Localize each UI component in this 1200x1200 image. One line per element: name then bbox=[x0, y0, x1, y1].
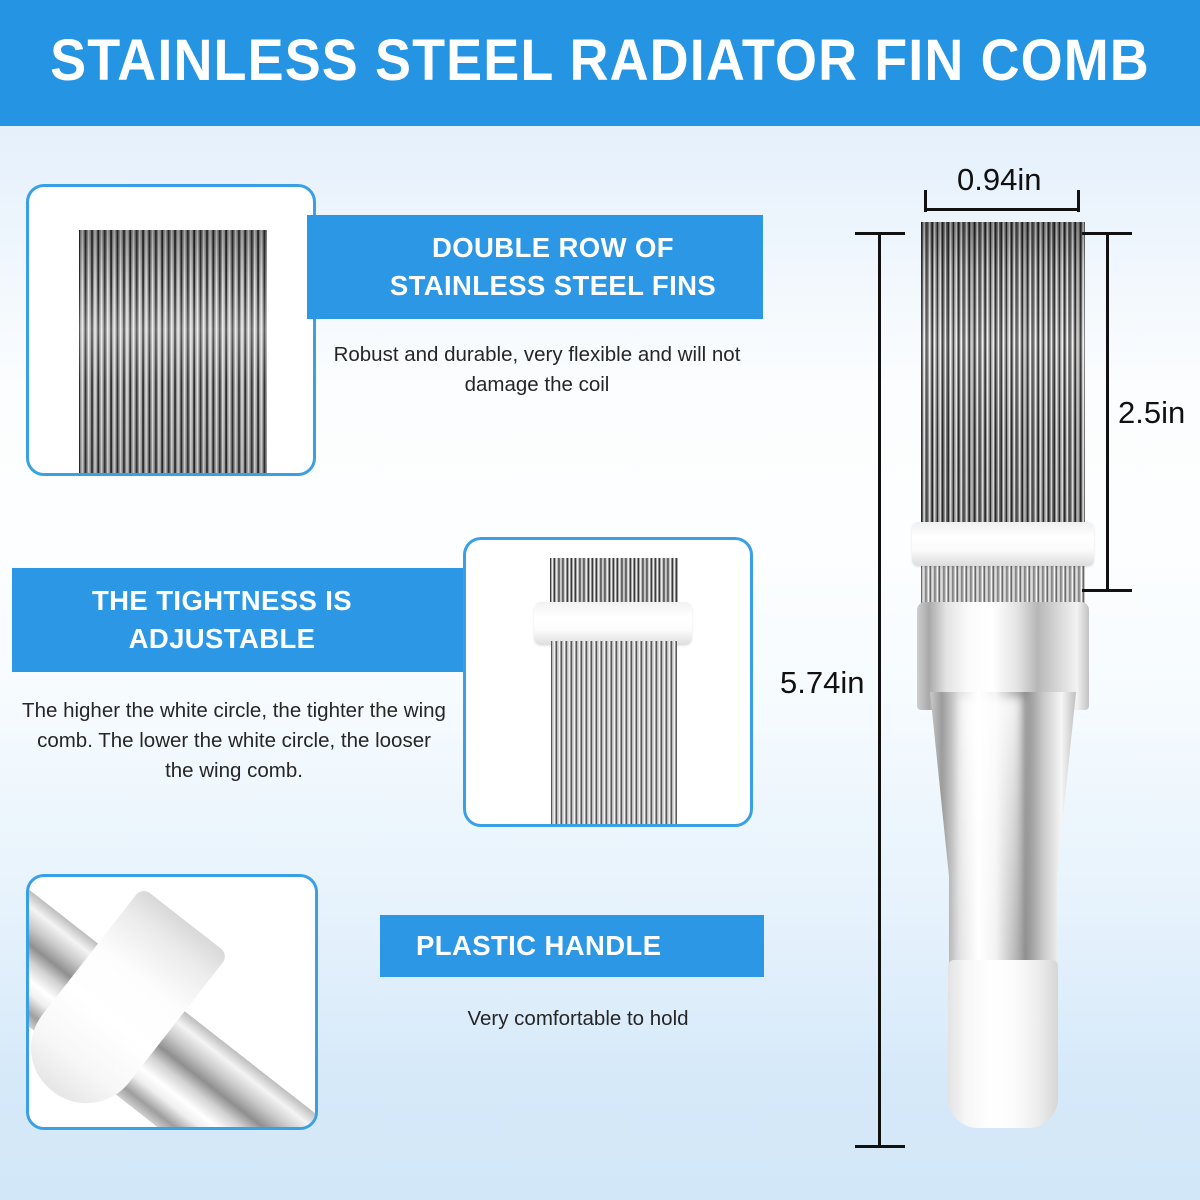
feature-title-double-row-fins: DOUBLE ROW OF STAINLESS STEEL FINS bbox=[307, 215, 763, 319]
header-banner: STAINLESS STEEL RADIATOR FIN COMB bbox=[0, 0, 1200, 126]
feature-description-tightness-adjustable: The higher the white circle, the tighter… bbox=[20, 696, 448, 786]
total-length-dimension-tick-bottom bbox=[855, 1145, 905, 1148]
feature-title-tightness-adjustable: THE TIGHTNESS IS ADJUSTABLE bbox=[12, 568, 468, 672]
total-length-dimension-line bbox=[878, 232, 881, 1148]
feature-title-plastic-handle: PLASTIC HANDLE bbox=[380, 915, 764, 977]
lower-fins-photo bbox=[551, 641, 677, 827]
feature-title-line-1: THE TIGHTNESS IS bbox=[12, 582, 432, 620]
feature-image-adjustable-collar bbox=[463, 537, 753, 827]
product-comb-fins-upper bbox=[921, 222, 1085, 522]
upper-fins-photo bbox=[550, 558, 678, 605]
steel-fins-photo bbox=[79, 230, 267, 476]
total-length-dimension-label: 5.74in bbox=[780, 665, 864, 701]
product-photo bbox=[900, 222, 1100, 1152]
feature-image-plastic-handle bbox=[26, 874, 318, 1130]
width-dimension-label: 0.94in bbox=[957, 162, 1041, 198]
total-length-dimension-tick-top bbox=[855, 232, 905, 235]
feature-description-double-row-fins: Robust and durable, very flexible and wi… bbox=[327, 340, 747, 400]
product-plastic-end-cap bbox=[948, 960, 1058, 1128]
feature-image-stainless-steel-fins bbox=[26, 184, 316, 476]
width-dimension-line bbox=[924, 208, 1080, 211]
feature-title-line-2: ADJUSTABLE bbox=[12, 620, 432, 658]
comb-height-dimension-line bbox=[1106, 232, 1109, 592]
feature-title-line-1: PLASTIC HANDLE bbox=[416, 928, 764, 964]
comb-height-dimension-label: 2.5in bbox=[1118, 395, 1185, 431]
white-adjustment-collar bbox=[534, 602, 692, 645]
feature-description-plastic-handle: Very comfortable to hold bbox=[390, 1004, 766, 1034]
width-dimension-tick-left bbox=[924, 190, 927, 212]
feature-title-line-2: STAINLESS STEEL FINS bbox=[343, 267, 763, 305]
product-white-collar bbox=[912, 522, 1094, 566]
comb-height-dimension-tick-top bbox=[1082, 232, 1132, 235]
infographic-page: STAINLESS STEEL RADIATOR FIN COMB DOUBLE… bbox=[0, 0, 1200, 1200]
width-dimension-tick-right bbox=[1077, 190, 1080, 212]
feature-title-line-1: DOUBLE ROW OF bbox=[343, 229, 763, 267]
comb-height-dimension-tick-bottom bbox=[1082, 589, 1132, 592]
page-title: STAINLESS STEEL RADIATOR FIN COMB bbox=[42, 26, 1158, 96]
